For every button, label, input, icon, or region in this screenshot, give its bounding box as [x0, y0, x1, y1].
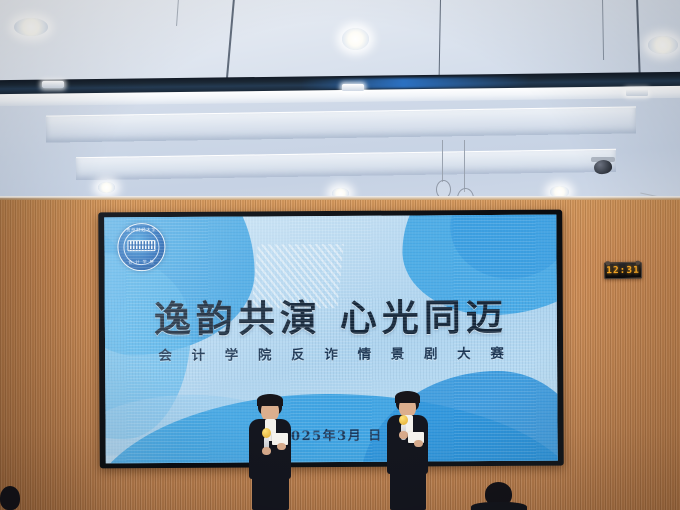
host-left-hair-top [257, 394, 283, 406]
seal-arc-text: 贵州财经大学 [118, 227, 164, 233]
host-left-arm [250, 426, 261, 460]
ceiling-downlight-icon [98, 182, 115, 193]
audience-head [0, 486, 20, 510]
ceiling-spot-fixture [42, 81, 64, 88]
ceiling-spot-fixture [342, 84, 364, 91]
host-left-trousers [252, 472, 289, 510]
ceiling-spot-fixture [626, 89, 648, 96]
seal-band-glyphs [128, 241, 154, 250]
host-right-hair-top [395, 391, 420, 403]
digital-wall-clock: 12:31 [604, 262, 642, 280]
screen-title: 逸韵共演 心光同迈 [105, 287, 557, 344]
led-screen-bezel: 贵州财经大学 会 计 学 院 逸韵共演 心光同迈 会 计 学 院 反 诈 情 景… [98, 210, 564, 469]
clock-bracket [636, 261, 640, 265]
ceiling-downlight-icon [14, 18, 48, 36]
host-right-hand [399, 431, 408, 439]
photo-scene: 贵州财经大学 会 计 学 院 逸韵共演 心光同迈 会 计 学 院 反 诈 情 景… [0, 0, 680, 510]
hanging-cord [464, 140, 465, 192]
ceiling [0, 0, 680, 205]
ceiling-downlight-icon [342, 28, 369, 50]
audience-shoulders [471, 502, 527, 510]
microphone-head-icon [399, 415, 408, 425]
led-screen: 贵州财经大学 会 计 学 院 逸韵共演 心光同迈 会 计 学 院 反 诈 情 景… [104, 215, 557, 464]
host-left-hand [262, 447, 271, 455]
hanging-cord [442, 140, 443, 182]
host-right-hand [414, 440, 423, 447]
microphone-head-icon [262, 428, 271, 438]
university-seal-logo: 贵州财经大学 会 计 学 院 [117, 223, 165, 271]
seal-bottom-text: 会 计 学 院 [119, 259, 165, 265]
security-camera-icon [593, 159, 613, 175]
screen-subtitle: 会 计 学 院 反 诈 情 景 剧 大 赛 [105, 342, 557, 365]
clock-time-display: 12:31 [606, 265, 640, 277]
ceiling-cove-band [46, 107, 636, 142]
host-right-trousers [390, 468, 426, 510]
screen-date: 2025年3月 日 [106, 424, 558, 446]
ceiling-cove-band [76, 150, 616, 180]
host-right-arm [388, 421, 399, 451]
clock-bracket [606, 261, 610, 265]
host-left-hand [277, 443, 286, 450]
ceiling-downlight-icon [648, 36, 678, 54]
